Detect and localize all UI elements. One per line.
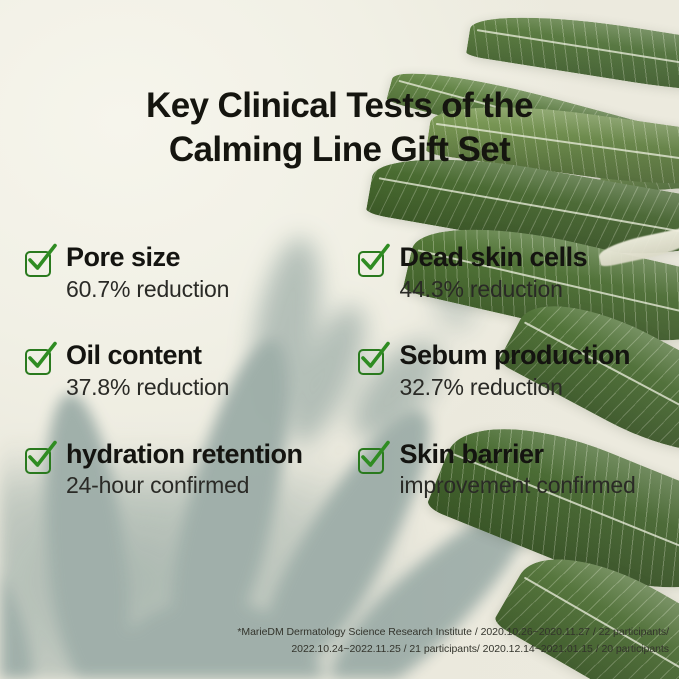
result-item-oil-content: Oil content 37.8% reduction bbox=[24, 341, 357, 401]
result-label: Oil content bbox=[66, 340, 202, 370]
result-item-hydration-retention: hydration retention 24-hour confirmed bbox=[24, 440, 357, 500]
result-item-dead-skin-cells: Dead skin cells 44.3% reduction bbox=[357, 243, 675, 303]
footnote: *MarieDM Dermatology Science Research In… bbox=[24, 624, 669, 657]
result-item-sebum-production: Sebum production 32.7% reduction bbox=[357, 341, 675, 401]
check-box-icon bbox=[357, 248, 388, 279]
result-item-pore-size: Pore size 60.7% reduction bbox=[24, 243, 357, 303]
page-title: Key Clinical Tests of the Calming Line G… bbox=[0, 84, 679, 172]
result-value: 60.7% reduction bbox=[66, 276, 229, 304]
result-label: Sebum production bbox=[399, 340, 630, 370]
poster-content: Key Clinical Tests of the Calming Line G… bbox=[0, 0, 679, 679]
check-box-icon bbox=[357, 445, 388, 476]
result-label: Skin barrier bbox=[399, 439, 543, 469]
results-grid: Pore size 60.7% reduction Dead skin cell… bbox=[24, 243, 675, 538]
check-box-icon bbox=[357, 346, 388, 377]
check-box-icon bbox=[24, 248, 55, 279]
check-box-icon bbox=[24, 445, 55, 476]
footnote-line-2: 2022.10.24~2022.11.25 / 21 participants/… bbox=[24, 641, 669, 657]
clinical-results-poster: Key Clinical Tests of the Calming Line G… bbox=[0, 0, 679, 679]
result-item-skin-barrier: Skin barrier improvement confirmed bbox=[357, 440, 675, 500]
result-value: 32.7% reduction bbox=[399, 374, 630, 402]
result-value: improvement confirmed bbox=[399, 472, 635, 500]
results-row-2: Oil content 37.8% reduction Sebum produc… bbox=[24, 341, 675, 401]
footnote-line-1: *MarieDM Dermatology Science Research In… bbox=[24, 624, 669, 640]
result-label: Pore size bbox=[66, 242, 180, 272]
check-box-icon bbox=[24, 346, 55, 377]
result-value: 44.3% reduction bbox=[399, 276, 587, 304]
result-value: 37.8% reduction bbox=[66, 374, 229, 402]
results-row-3: hydration retention 24-hour confirmed Sk… bbox=[24, 440, 675, 500]
result-value: 24-hour confirmed bbox=[66, 472, 303, 500]
results-row-1: Pore size 60.7% reduction Dead skin cell… bbox=[24, 243, 675, 303]
result-label: hydration retention bbox=[66, 439, 303, 469]
result-label: Dead skin cells bbox=[399, 242, 587, 272]
